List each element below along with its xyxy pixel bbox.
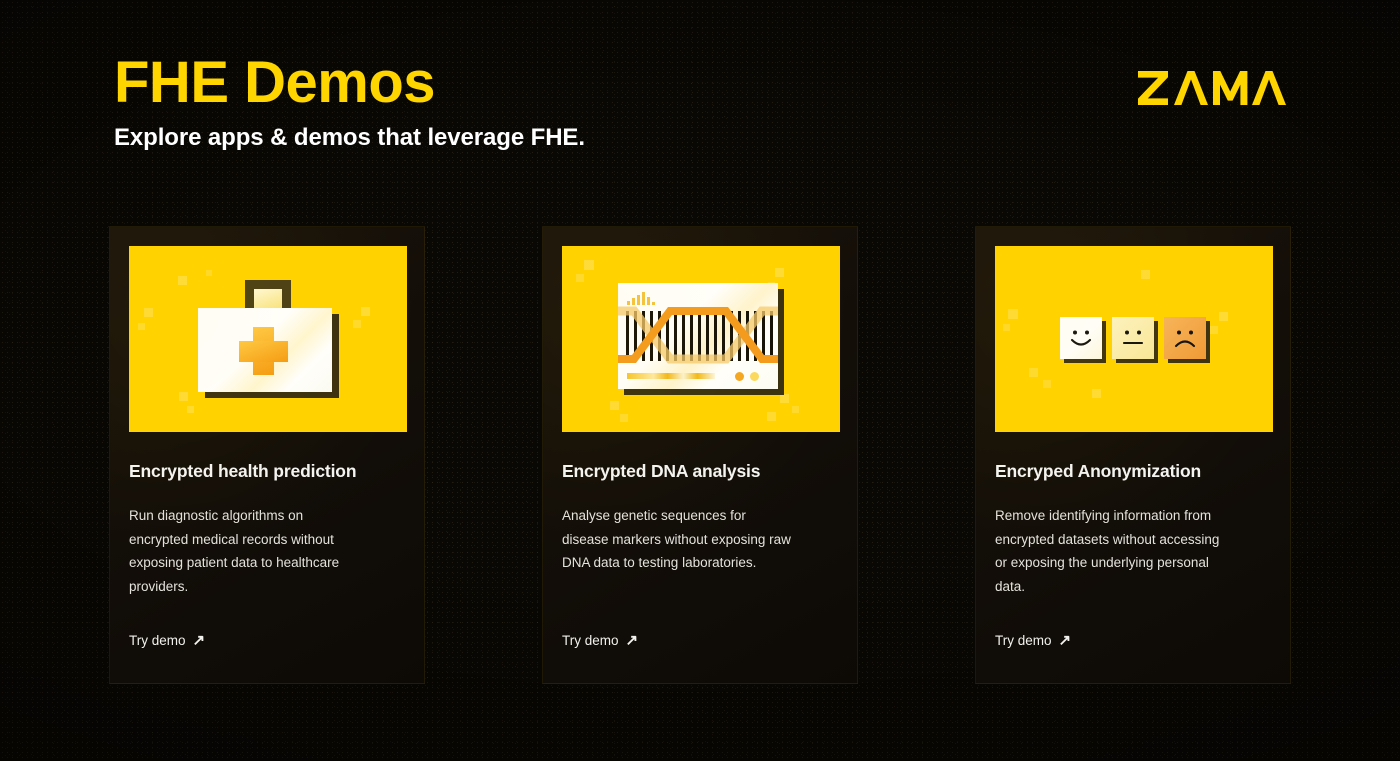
mini-bar-chart: [627, 292, 655, 305]
card-title: Encrypted DNA analysis: [562, 461, 838, 482]
sentiment-tiles: [1060, 317, 1208, 361]
decor-square: [1219, 312, 1228, 321]
decor-square: [780, 394, 789, 403]
page-subtitle: Explore apps & demos that leverage FHE.: [114, 124, 585, 152]
card-description: Run diagnostic algorithms on encrypted m…: [129, 504, 359, 598]
decor-square: [767, 412, 776, 421]
decor-square: [1210, 326, 1218, 334]
zama-logo[interactable]: [1138, 66, 1288, 110]
decor-square: [178, 276, 187, 285]
card-title: Encryped Anonymization: [995, 461, 1271, 482]
happy-face-icon: [1060, 317, 1104, 361]
card-title: Encrypted health prediction: [129, 461, 405, 482]
decor-square: [179, 392, 188, 401]
demo-card-dna-analysis[interactable]: Encrypted DNA analysis Analyse genetic s…: [542, 226, 858, 684]
page-root: FHE Demos Explore apps & demos that leve…: [0, 0, 1400, 761]
arrow-up-right-icon: ↗: [193, 633, 206, 648]
card-description: Remove identifying information from encr…: [995, 504, 1225, 598]
decor-square: [610, 401, 619, 410]
try-demo-label: Try demo: [562, 633, 619, 648]
try-demo-label: Try demo: [995, 633, 1052, 648]
dna-helix-icon: [618, 283, 784, 395]
demo-cards-row: Encrypted health prediction Run diagnost…: [109, 226, 1291, 684]
decor-square: [1043, 380, 1051, 388]
progress-bar: [627, 373, 715, 379]
decor-square: [1029, 368, 1038, 377]
try-demo-link[interactable]: Try demo ↗: [129, 633, 205, 648]
decor-square: [144, 308, 153, 317]
decor-square: [1141, 270, 1150, 279]
try-demo-label: Try demo: [129, 633, 186, 648]
card-description: Analyse genetic sequences for disease ma…: [562, 504, 792, 575]
decor-square: [206, 270, 212, 276]
neutral-face-icon: [1112, 317, 1156, 361]
decor-square: [775, 268, 784, 277]
decor-square: [361, 307, 370, 316]
decor-square: [1092, 389, 1101, 398]
card-artwork-medical-kit: [129, 246, 407, 432]
page-header: FHE Demos Explore apps & demos that leve…: [114, 52, 585, 152]
decor-square: [620, 414, 628, 422]
decor-square: [138, 323, 145, 330]
decor-square: [187, 406, 194, 413]
card-artwork-sentiment-faces: [995, 246, 1273, 432]
decor-square: [1008, 309, 1018, 319]
card-artwork-dna: [562, 246, 840, 432]
try-demo-link[interactable]: Try demo ↗: [995, 633, 1071, 648]
decor-square: [353, 320, 361, 328]
try-demo-link[interactable]: Try demo ↗: [562, 633, 638, 648]
medical-kit-icon: [193, 280, 343, 398]
page-title: FHE Demos: [114, 52, 585, 115]
arrow-up-right-icon: ↗: [626, 633, 639, 648]
decor-square: [576, 274, 584, 282]
demo-card-anonymization[interactable]: Encryped Anonymization Remove identifyin…: [975, 226, 1291, 684]
sad-face-icon: [1164, 317, 1208, 361]
decor-square: [584, 260, 594, 270]
decor-square: [792, 406, 799, 413]
decor-square: [1003, 324, 1010, 331]
arrow-up-right-icon: ↗: [1059, 633, 1072, 648]
demo-card-health-prediction[interactable]: Encrypted health prediction Run diagnost…: [109, 226, 425, 684]
